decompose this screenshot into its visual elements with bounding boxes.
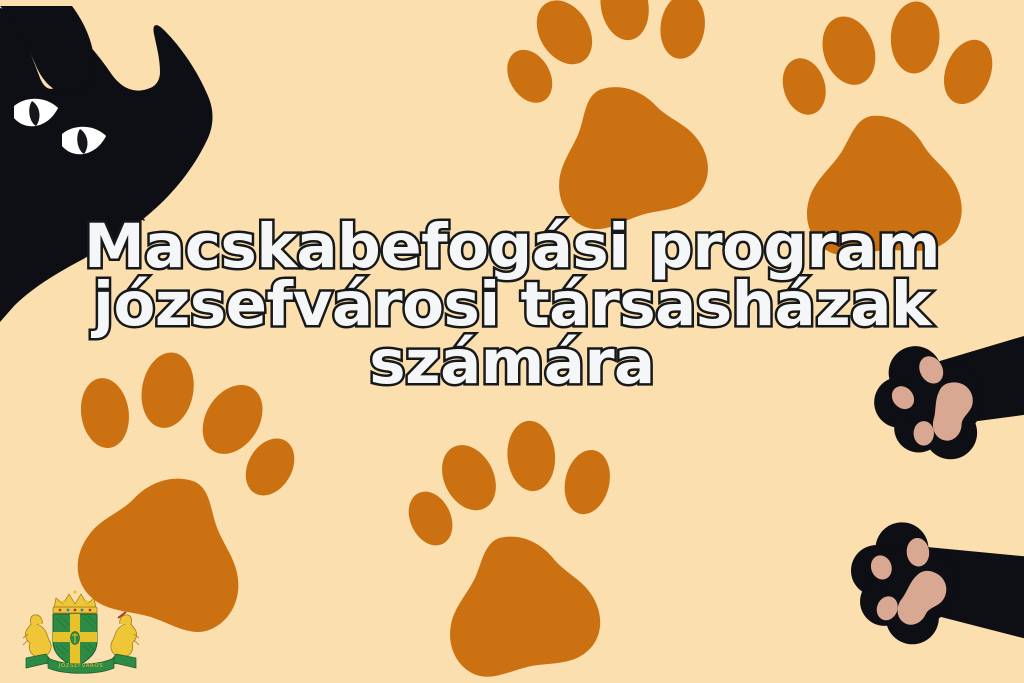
crest-shield [53,614,97,667]
cat-eye-right [62,127,106,155]
cat-paw-lower-right [838,511,1024,682]
poster-title: Macskabefogási program józsefvárosi társ… [0,218,1024,392]
title-line-1: Macskabefogási program [0,218,1024,276]
title-line-3: számára [0,334,1024,392]
paw-print-top-center [488,0,739,240]
poster-canvas: Macskabefogási program józsefvárosi társ… [0,0,1024,683]
cat-eye-left [14,99,58,127]
title-line-2: józsefvárosi társasházak [0,276,1024,334]
paw-print-bottom-center [396,416,627,681]
crest-banner-text: JÓZSEFVÁROS [58,662,104,669]
crest-crown [53,590,97,613]
jozsefvaros-coat-of-arms: JÓZSEFVÁROS [22,588,140,676]
